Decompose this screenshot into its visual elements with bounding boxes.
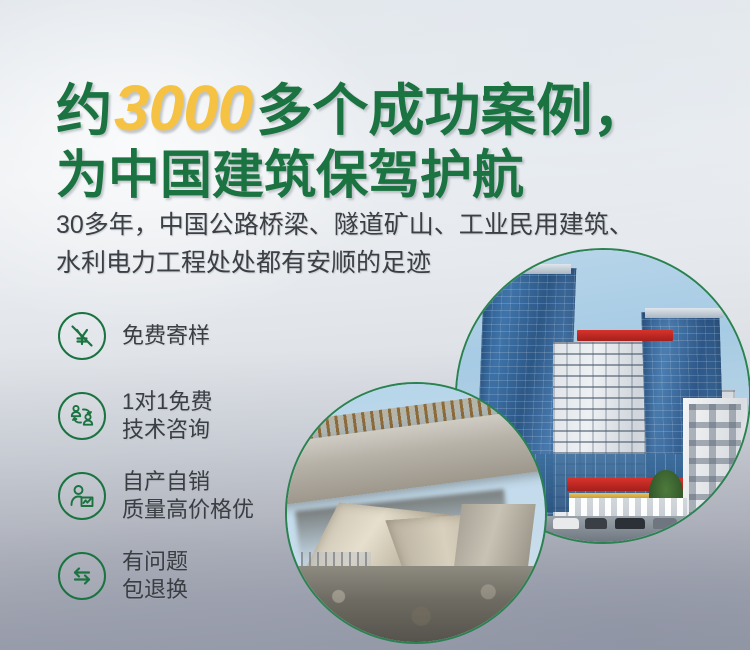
feature-line-1: 免费寄样 [122, 322, 210, 350]
feature-text: 免费寄样 [122, 322, 210, 350]
car [653, 518, 677, 529]
feature-line-2: 质量高价格优 [122, 496, 254, 524]
feature-text: 1对1免费 技术咨询 [122, 388, 212, 444]
headline-block: 约3000多个成功案例， 为中国建筑保驾护航 [56, 74, 716, 206]
car [553, 518, 579, 529]
tower-right-cap [645, 308, 723, 318]
headline-suffix: 多个成功案例， [256, 79, 648, 142]
feature-item-self-produce-sell[interactable]: 自产自销 质量高价格优 [58, 456, 358, 536]
return-exchange-icon [58, 552, 106, 600]
feature-line-2: 包退换 [122, 576, 188, 604]
feature-line-1: 有问题 [122, 548, 188, 576]
feature-list: 免费寄样 1对1免费 技术咨询 [58, 296, 358, 616]
headline-number: 3000 [112, 72, 256, 144]
feature-item-free-sample[interactable]: 免费寄样 [58, 296, 358, 376]
feature-text: 自产自销 质量高价格优 [122, 468, 254, 524]
feature-item-one-on-one-consult[interactable]: 1对1免费 技术咨询 [58, 376, 358, 456]
self-produce-sell-icon [58, 472, 106, 520]
rooftop-sign [577, 330, 673, 341]
car [615, 518, 645, 529]
one-on-one-consult-icon [58, 392, 106, 440]
feature-line-1: 自产自销 [122, 468, 254, 496]
headline-line-1: 约3000多个成功案例， [56, 74, 716, 143]
feature-item-return-exchange[interactable]: 有问题 包退换 [58, 536, 358, 616]
promo-banner: 约3000多个成功案例， 为中国建筑保驾护航 30多年，中国公路桥梁、隧道矿山、… [0, 0, 750, 650]
feature-line-1: 1对1免费 [122, 388, 212, 416]
headline-line-2: 为中国建筑保驾护航 [56, 147, 716, 206]
tower-left-cap [479, 264, 571, 274]
side-building [683, 398, 747, 526]
feature-line-2: 技术咨询 [122, 416, 212, 444]
subtitle-line-1: 30多年，中国公路桥梁、隧道矿山、工业民用建筑、 [56, 206, 728, 244]
feature-text: 有问题 包退换 [122, 548, 188, 604]
free-sample-icon [58, 312, 106, 360]
car [585, 518, 607, 529]
headline-prefix: 约 [56, 79, 112, 142]
